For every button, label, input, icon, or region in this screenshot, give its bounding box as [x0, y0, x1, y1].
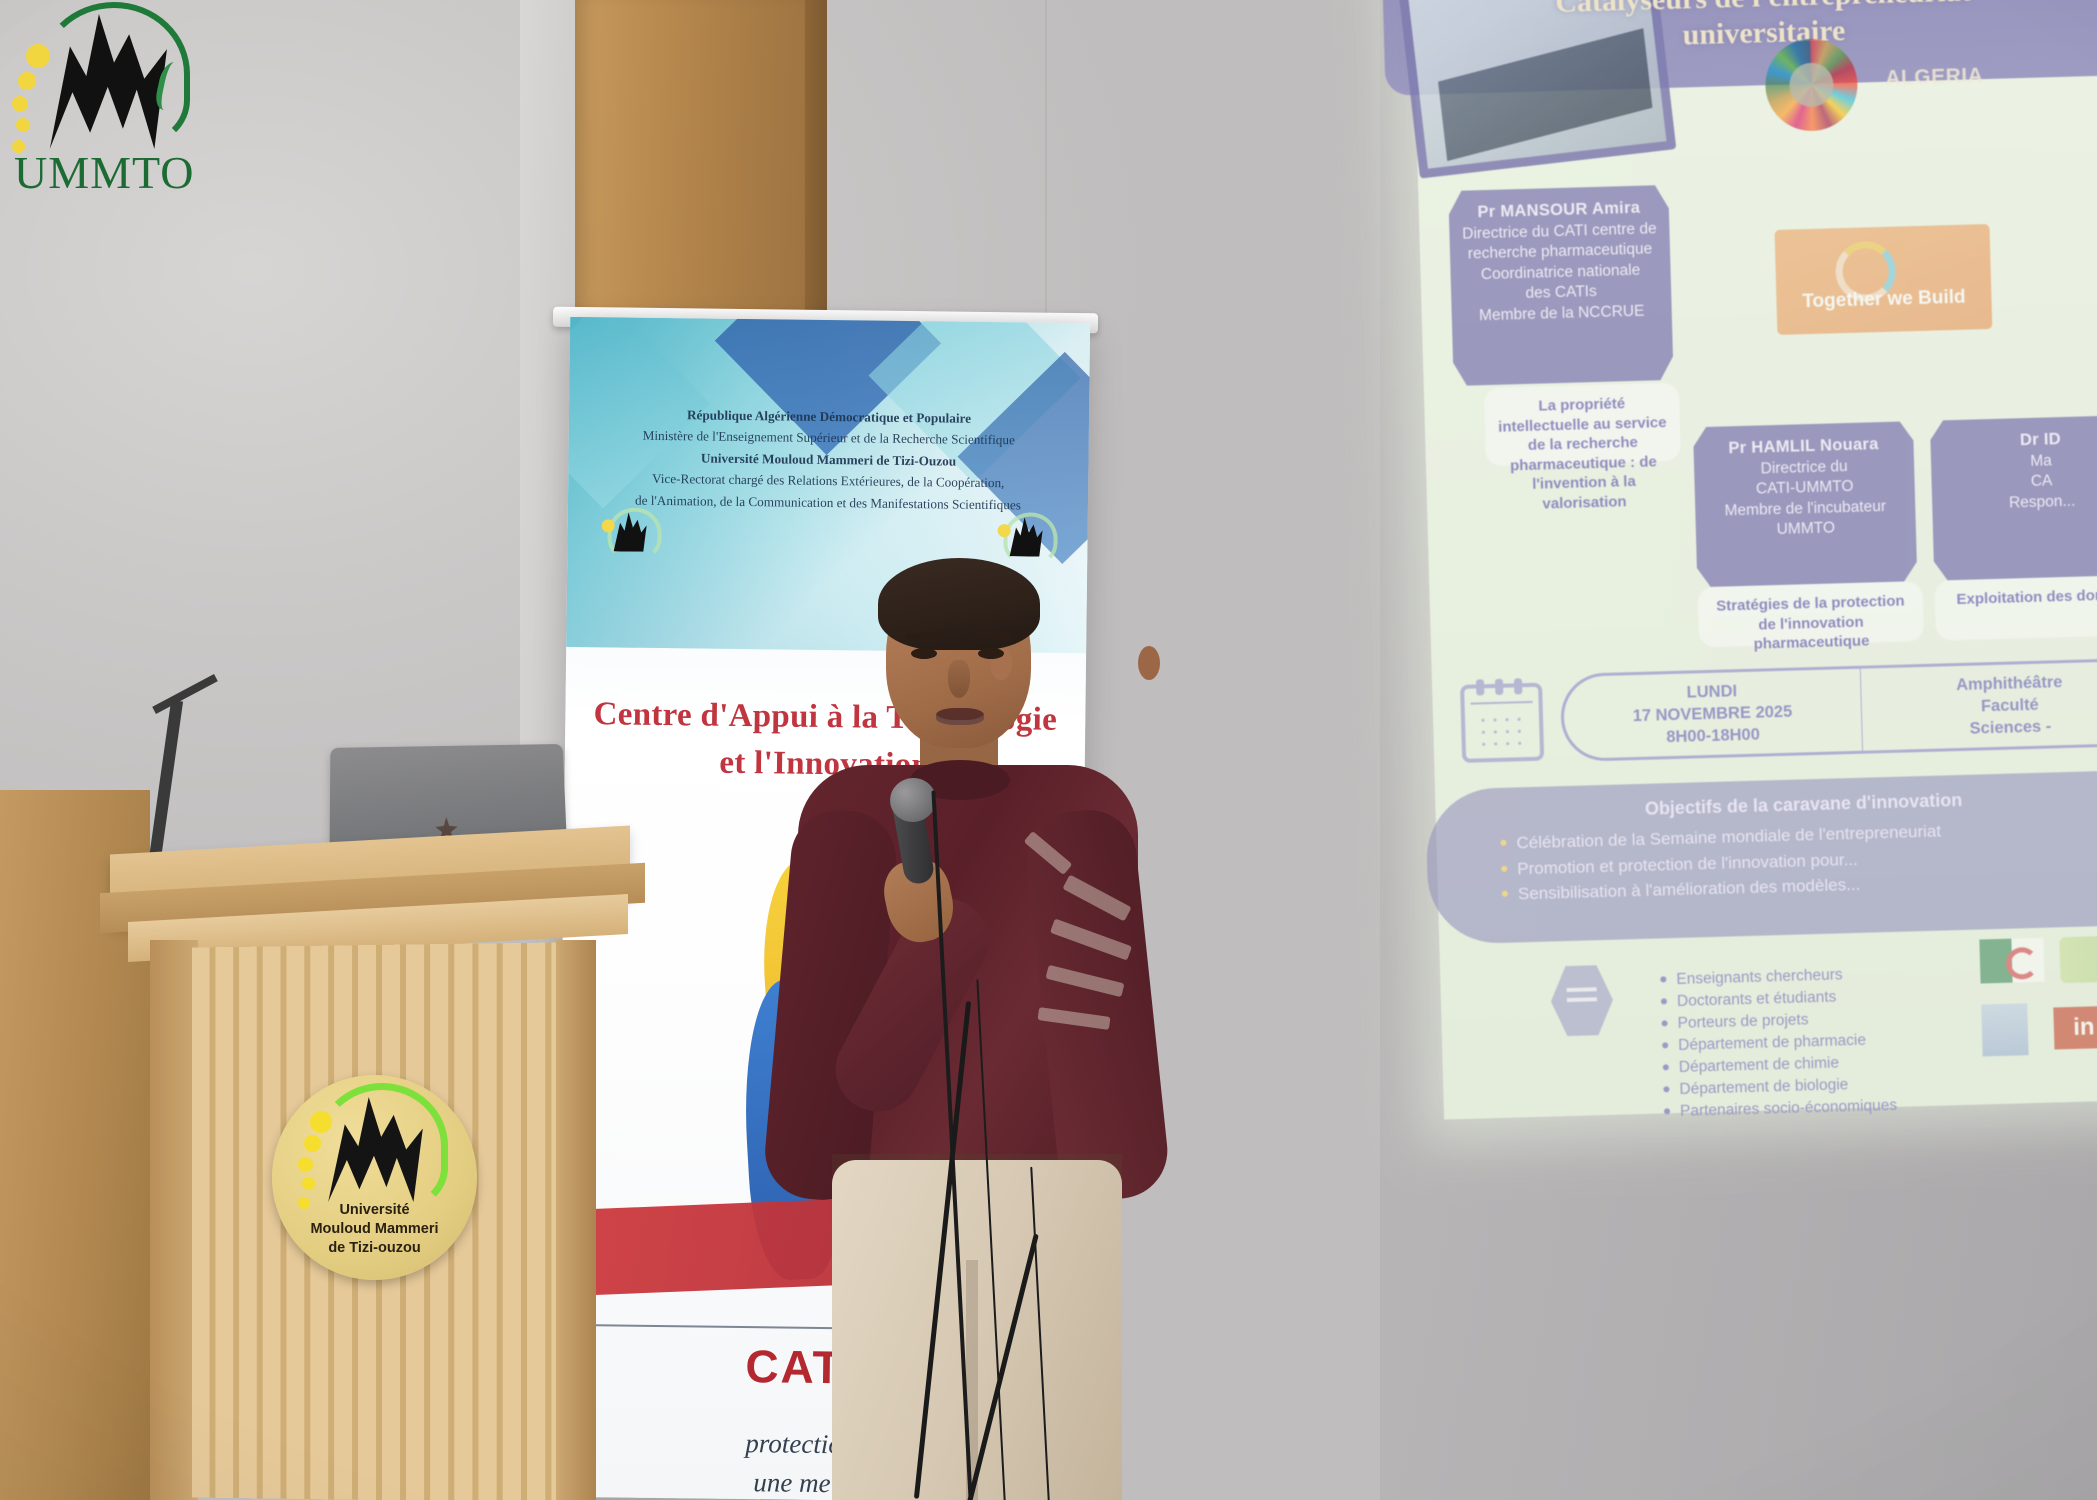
projected-slide: pharm Catalyseurs de l'entrepreneuriat u… [1412, 0, 2097, 1120]
event-venue-pill: Amphithéâtre Faculté Sciences - [1860, 657, 2097, 753]
audience-hex-icon [1550, 965, 1614, 1037]
speaker-1-role-3: Coordinatrice nationale [1481, 261, 1641, 282]
ummto-logo-small-left [603, 505, 658, 560]
eye [911, 648, 937, 659]
speaker-1-name: Pr MANSOUR Amira [1477, 199, 1640, 222]
linkedin-icon: in [2053, 1006, 2097, 1050]
speaker-3-role-3: Respon... [2009, 492, 2076, 511]
nose [948, 660, 970, 698]
venue-line-2: Faculté [1956, 693, 2063, 718]
speaker-3-topic: Exploitation des données [1934, 574, 2097, 640]
speaker-2-role-3: Membre de l'incubateur [1724, 498, 1886, 520]
banner-header-text: République Algérienne Démocratique et Po… [568, 403, 1089, 516]
plaque-text: Université Mouloud Mammeri de Tizi-ouzou [272, 1201, 477, 1258]
speaker-card-1: Pr MANSOUR Amira Directrice du CATI cent… [1448, 185, 1673, 386]
mouth [936, 708, 984, 725]
eye [978, 648, 1004, 659]
speaker-2-role-1: Directrice du [1760, 458, 1847, 477]
speaker-1-role-4: des CATIs [1525, 283, 1597, 302]
photo-scene: pharm Catalyseurs de l'entrepreneuriat u… [0, 0, 2097, 1500]
speaker-3-role-1: Ma [2030, 452, 2052, 470]
venue-line-1: Amphithéâtre [1956, 671, 2063, 696]
audience-list: Enseignants chercheurs Doctorants et étu… [1620, 960, 1994, 1124]
plaque-line-2: Mouloud Mammeri [272, 1220, 477, 1239]
speaker-1-role-5: Membre de la NCCRUE [1479, 302, 1645, 324]
speaker-1-topic: La propriété intellectuelle au service d… [1484, 383, 1681, 466]
speaker-2-topic: Stratégies de la protection de l'innovat… [1697, 581, 1924, 647]
algeria-flag-icon [1979, 938, 2044, 984]
plaque-dots-icon [298, 1111, 332, 1207]
partner-logo-blue [1981, 1003, 2028, 1056]
hair [878, 558, 1040, 650]
speaker-card-3: Dr ID Ma CA Respon... [1930, 415, 2097, 581]
speaker-1-role-1: Directrice du CATI centre de [1462, 220, 1657, 242]
event-date-pill: LUNDI 17 NOVEMBRE 2025 8H00-18H00 [1560, 666, 1862, 762]
speaker-card-2: Pr HAMLIL Nouara Directrice du CATI-UMMT… [1693, 421, 1917, 587]
event-date: 17 NOVEMBRE 2025 [1632, 701, 1792, 728]
together-we-build-badge: Together we Build [1774, 224, 1992, 335]
calendar-icon [1460, 683, 1544, 763]
objectives-panel: Objectifs de la caravane d'innovation Cé… [1425, 769, 2097, 945]
venue-line-3: Sciences - [1957, 715, 2064, 740]
plaque-line-3: de Tizi-ouzou [272, 1239, 477, 1258]
event-datebar: LUNDI 17 NOVEMBRE 2025 8H00-18H00 Amphit… [1452, 650, 2097, 774]
logo-dots-icon [12, 44, 52, 154]
university-plaque: Université Mouloud Mammeri de Tizi-ouzou [272, 1075, 477, 1280]
logo-wordmark: UMMTO [14, 146, 194, 199]
podium-right-side [556, 940, 596, 1500]
speaker-3-name: Dr ID [2020, 430, 2061, 449]
podium-left-side [150, 940, 198, 1500]
speaker-1-role-2: recherche pharmaceutique [1468, 241, 1653, 263]
algeria-label: ALGERIA [1885, 64, 1984, 91]
ummto-wall-logo: UMMTO [10, 4, 210, 214]
speaker-2-role-2: CATI-UMMTO [1756, 478, 1854, 498]
speaker-2-name: Pr HAMLIL Nouara [1728, 435, 1879, 457]
plaque-line-1: Université [272, 1201, 477, 1220]
event-time: 8H00-18H00 [1633, 723, 1793, 750]
speaker-2-role-4: UMMTO [1776, 520, 1835, 539]
partner-logo-green [2059, 935, 2097, 983]
ummto-logo-small-right [999, 510, 1054, 565]
speaker-3-role-2: CA [2031, 473, 2053, 491]
ear [1138, 646, 1160, 680]
presenter [770, 560, 1200, 1500]
